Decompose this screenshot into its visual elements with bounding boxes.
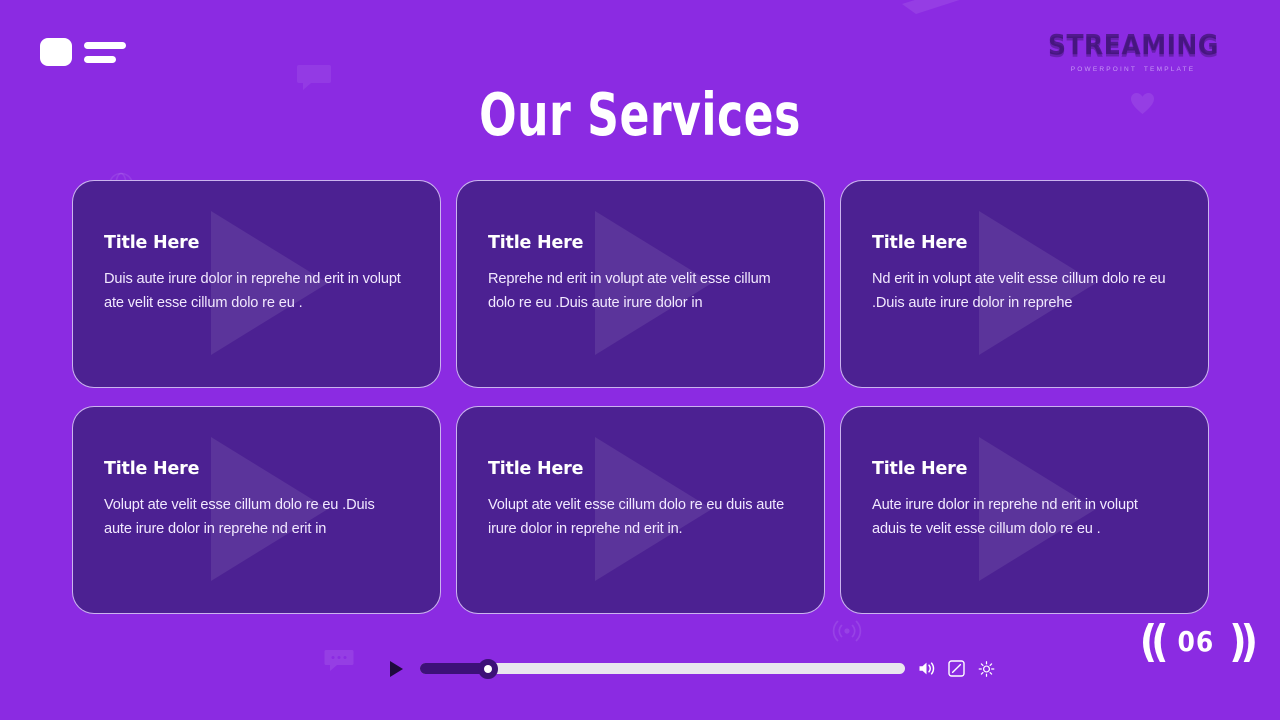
card-body: Aute irure dolor in reprehe nd erit in v… [872, 493, 1174, 541]
progress-knob[interactable] [478, 659, 498, 679]
logo-lines-icon [84, 41, 126, 63]
card-title: Title Here [872, 233, 1174, 253]
services-grid: Title Here Duis aute irure dolor in repr… [72, 180, 1208, 614]
card-body: Duis aute irure dolor in reprehe nd erit… [104, 267, 406, 315]
card-title: Title Here [872, 459, 1174, 479]
service-card[interactable]: Title Here Reprehe nd erit in volupt ate… [456, 180, 825, 388]
service-card[interactable]: Title Here Duis aute irure dolor in repr… [72, 180, 441, 388]
broadcast-icon [832, 620, 862, 642]
logo-square-icon [40, 38, 72, 66]
service-card[interactable]: Title Here Aute irure dolor in reprehe n… [840, 406, 1209, 614]
ribbon-icon [900, 0, 980, 18]
page-number-value: 06 [1167, 627, 1224, 655]
logo-wordmark: STREAMING [1048, 31, 1218, 59]
gear-icon[interactable] [978, 660, 995, 677]
card-title: Title Here [104, 233, 406, 253]
brandmark[interactable] [40, 38, 126, 66]
page-title: Our Services [26, 80, 1255, 149]
card-title: Title Here [488, 233, 790, 253]
card-body: Reprehe nd erit in volupt ate velit esse… [488, 267, 790, 315]
fullscreen-icon[interactable] [948, 660, 965, 677]
play-icon[interactable] [390, 661, 403, 677]
streaming-logo: STREAMING POWERPOINT TEMPLATE [1048, 32, 1218, 73]
volume-icon[interactable] [918, 660, 935, 677]
service-card[interactable]: Title Here Nd erit in volupt ate velit e… [840, 180, 1209, 388]
logo-subtitle: POWERPOINT TEMPLATE [1048, 66, 1218, 73]
page-number: (( 06 )) [1140, 622, 1252, 660]
card-title: Title Here [488, 459, 790, 479]
card-body: Volupt ate velit esse cillum dolo re eu … [488, 493, 790, 541]
card-title: Title Here [104, 459, 406, 479]
service-card[interactable]: Title Here Volupt ate velit esse cillum … [72, 406, 441, 614]
page-bracket-right: )) [1229, 619, 1252, 663]
slide-our-services: STREAMING POWERPOINT TEMPLATE Our Servic… [0, 0, 1280, 720]
chat-dots-icon [324, 648, 354, 674]
service-card[interactable]: Title Here Volupt ate velit esse cillum … [456, 406, 825, 614]
page-bracket-left: (( [1140, 619, 1163, 663]
card-body: Nd erit in volupt ate velit esse cillum … [872, 267, 1174, 315]
card-body: Volupt ate velit esse cillum dolo re eu … [104, 493, 406, 541]
progress-slider[interactable] [420, 663, 905, 674]
video-player-controls [390, 660, 995, 677]
